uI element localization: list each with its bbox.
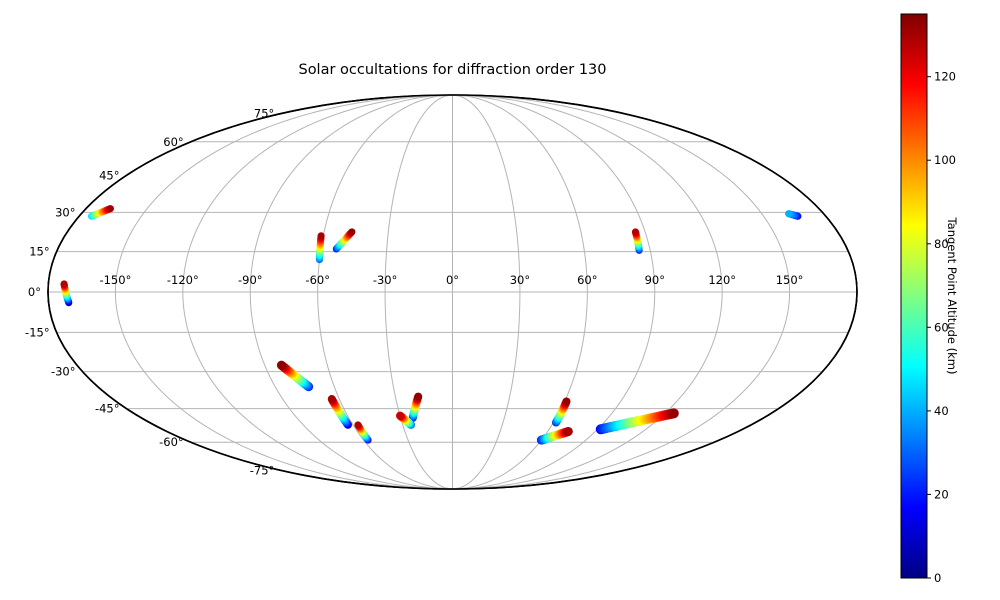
occultation-point bbox=[669, 408, 679, 418]
occultation-point bbox=[107, 205, 114, 212]
lon-tick-label: 150° bbox=[776, 273, 804, 287]
colorbar-axis-label: Tangent Point Altitude (km) bbox=[945, 218, 959, 375]
lat-tick-label: -15° bbox=[25, 325, 50, 339]
colorbar-tick-label: 100 bbox=[934, 153, 956, 167]
lat-tick-label: -30° bbox=[51, 365, 76, 379]
colorbar-tick-label: 40 bbox=[934, 404, 949, 418]
lat-tick-label: -60° bbox=[159, 435, 184, 449]
lat-tick-label: 30° bbox=[55, 205, 75, 219]
lat-tick-label: -45° bbox=[95, 402, 120, 416]
lon-tick-label: -90° bbox=[238, 273, 263, 287]
lon-tick-label: -60° bbox=[305, 273, 330, 287]
occultation-point bbox=[632, 228, 639, 235]
lon-tick-label: 60° bbox=[577, 273, 597, 287]
lon-tick-label: 120° bbox=[708, 273, 736, 287]
occultation-point bbox=[348, 228, 355, 235]
lon-tick-label: 30° bbox=[510, 273, 530, 287]
occultation-point bbox=[61, 280, 68, 287]
colorbar-gradient-bar[interactable] bbox=[901, 14, 927, 578]
occultation-point bbox=[354, 421, 361, 428]
page-title: Solar occultations for diffraction order… bbox=[0, 62, 905, 78]
figure-canvas: 75°60°45°30°15°0°-15°-30°-45°-60°-75°-15… bbox=[0, 0, 1000, 600]
colorbar-tick-label: 0 bbox=[934, 571, 941, 585]
lon-tick-label: 90° bbox=[645, 273, 665, 287]
lat-tick-label: 75° bbox=[254, 107, 274, 121]
lat-tick-label: 15° bbox=[29, 245, 49, 259]
lon-tick-label: -120° bbox=[167, 273, 199, 287]
occultation-point bbox=[328, 395, 336, 403]
lon-tick-label: 0° bbox=[446, 273, 459, 287]
lon-tick-label: -30° bbox=[373, 273, 398, 287]
occultation-point bbox=[277, 361, 286, 370]
occultation-point bbox=[396, 412, 404, 420]
mollweide-map: 75°60°45°30°15°0°-15°-30°-45°-60°-75°-15… bbox=[0, 0, 1000, 600]
occultation-point bbox=[562, 397, 570, 405]
occultation-point bbox=[564, 427, 573, 436]
lat-tick-label: 45° bbox=[99, 168, 119, 182]
occultation-point bbox=[785, 210, 792, 217]
colorbar-tick-label: 120 bbox=[934, 70, 956, 84]
lat-tick-label: -75° bbox=[250, 464, 275, 478]
lon-tick-label: -150° bbox=[99, 273, 131, 287]
lat-tick-label: 60° bbox=[163, 135, 183, 149]
lat-tick-label: 0° bbox=[28, 285, 41, 299]
occultation-point bbox=[414, 393, 422, 401]
colorbar-tick-label: 20 bbox=[934, 487, 949, 501]
occultation-point bbox=[318, 232, 325, 239]
